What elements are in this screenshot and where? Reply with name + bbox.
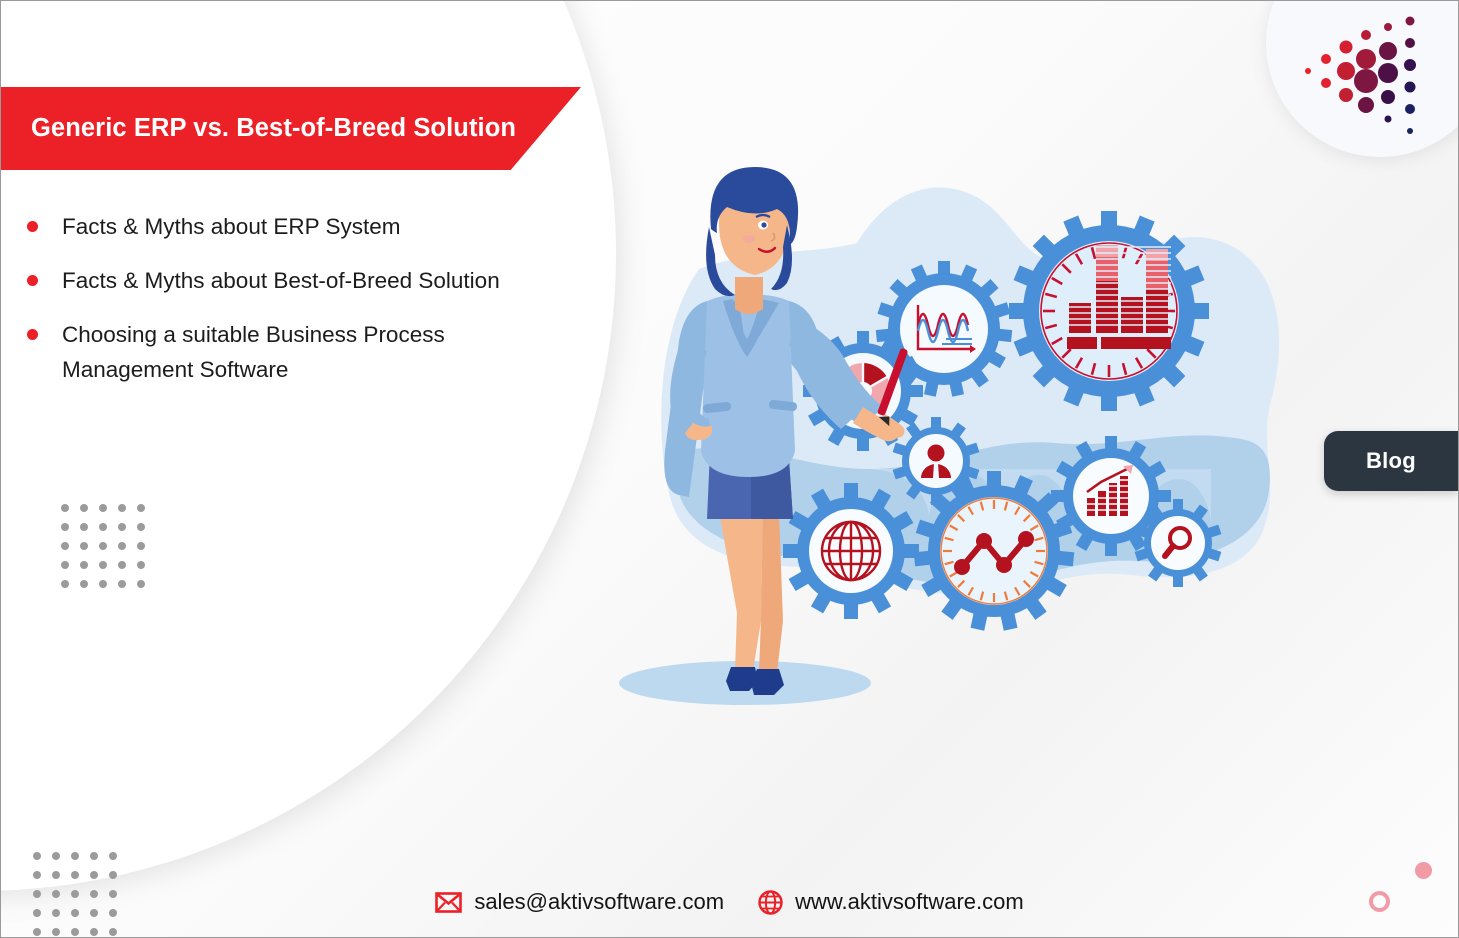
contact-website[interactable]: www.aktivsoftware.com [758,889,1024,915]
gear-equalizer [1009,211,1209,411]
aktiv-software-dotted-arrow-logo [1300,15,1450,145]
list-item: Facts & Myths about Best-of-Breed Soluti… [27,264,572,298]
bullet-dot-icon [27,221,38,232]
gear-line-chart [914,471,1075,631]
decorative-dot-grid-left [61,504,145,588]
footer-contact-bar: sales@aktivsoftware.com www.aktivsoftwar… [1,889,1458,915]
bullet-list: Facts & Myths about ERP System Facts & M… [27,210,572,407]
blog-tab-label: Blog [1366,448,1416,474]
list-item-label: Facts & Myths about Best-of-Breed Soluti… [62,264,500,298]
list-item-label: Facts & Myths about ERP System [62,210,400,244]
title-banner: Generic ERP vs. Best-of-Breed Solution [0,87,581,170]
contact-website-value: www.aktivsoftware.com [795,889,1024,915]
globe-icon [758,890,783,915]
contact-email[interactable]: sales@aktivsoftware.com [435,889,724,915]
list-item-label: Choosing a suitable Business Process Man… [62,318,544,386]
blog-tab-button[interactable]: Blog [1324,431,1458,491]
bullet-dot-icon [27,329,38,340]
list-item: Choosing a suitable Business Process Man… [27,318,572,386]
globe-grid-icon [822,522,880,580]
hero-illustration [611,151,1331,771]
page-title: Generic ERP vs. Best-of-Breed Solution [0,114,516,143]
contact-email-value: sales@aktivsoftware.com [474,889,724,915]
decorative-filled-circle [1415,862,1432,879]
list-item: Facts & Myths about ERP System [27,210,572,244]
slide-canvas: Generic ERP vs. Best-of-Breed Solution F… [0,0,1459,938]
envelope-icon [435,892,462,913]
bullet-dot-icon [27,275,38,286]
